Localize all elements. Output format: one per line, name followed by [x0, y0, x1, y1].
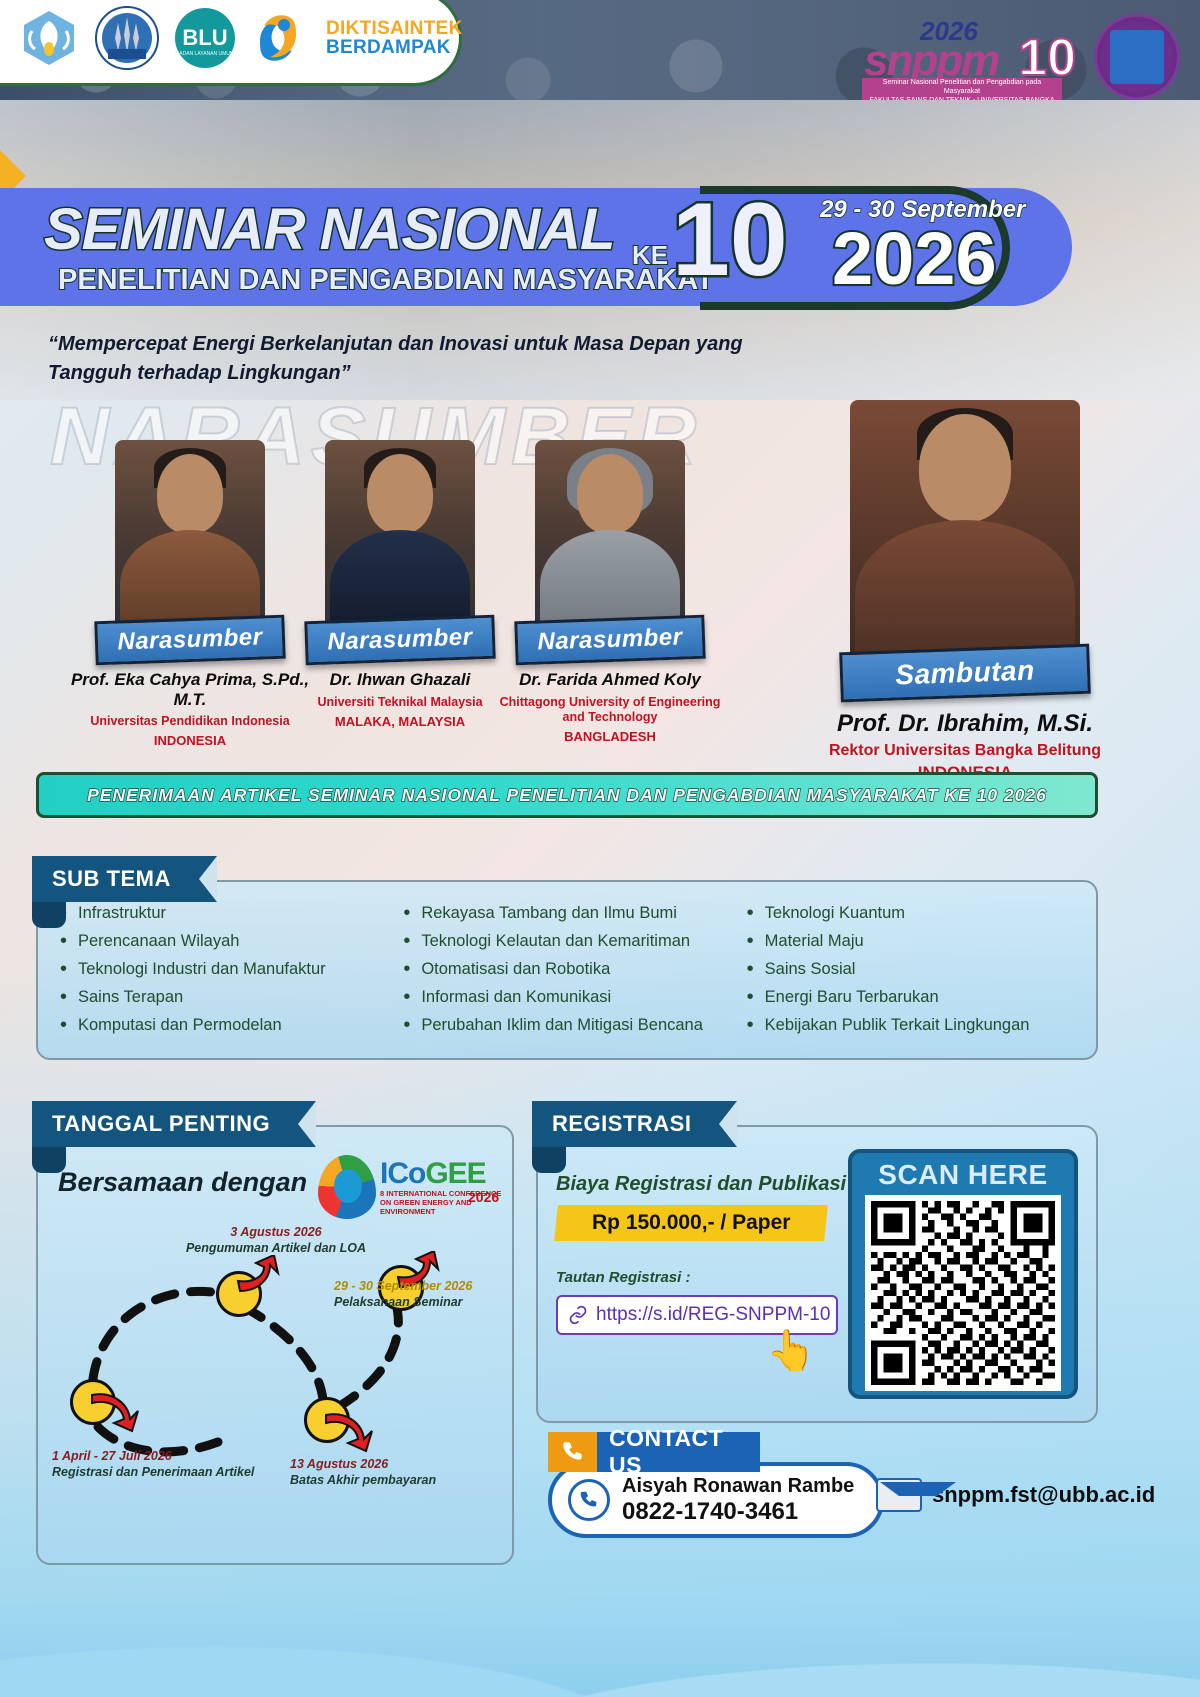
portrait-head — [157, 454, 223, 534]
speaker-ribbon-2: Narasumber — [304, 615, 495, 666]
fee-label: Biaya Registrasi dan Publikasi — [556, 1173, 846, 1196]
page-subtitle: PENELITIAN DAN PENGABDIAN MASYARAKAT — [58, 264, 714, 297]
diktisaintek-line2: BERDAMPAK — [326, 38, 463, 57]
contact-us-label: CONTACT US — [609, 1425, 760, 1479]
contact-email-row: snppm.fst@ubb.ac.id — [876, 1478, 1155, 1512]
subtema-item: Informasi dan Komunikasi — [399, 988, 742, 1007]
speaker-photo-3 — [535, 440, 685, 640]
timeline-date-1: 1 April - 27 Juli 2026 — [52, 1449, 282, 1465]
speaker-ribbon-label-1: Narasumber — [117, 623, 263, 656]
event-tagline: “Mempercepat Energi Berkelanjutan dan In… — [48, 330, 808, 388]
registration-url[interactable]: https://s.id/REG-SNPPM-10 — [596, 1304, 830, 1326]
keynote-ribbon-label: Sambutan — [895, 655, 1035, 692]
keynote-photo — [850, 400, 1080, 670]
diktisaintek-icon — [250, 9, 308, 67]
fee-amount-badge: Rp 150.000,- / Paper — [554, 1205, 828, 1241]
subtema-item: Perubahan Iklim dan Mitigasi Bencana — [399, 1016, 742, 1035]
registrasi-title: REGISTRASI — [552, 1111, 691, 1137]
speaker-photo-1 — [115, 440, 265, 640]
contact-email: snppm.fst@ubb.ac.id — [932, 1482, 1155, 1508]
svg-text:BLU: BLU — [182, 25, 227, 50]
subtema-item: Infrastruktur — [56, 904, 399, 923]
subtema-item: Komputasi dan Permodelan — [56, 1016, 399, 1035]
edition-prefix-label: KE — [632, 240, 668, 271]
speaker-card-2: Narasumber Dr. Ihwan Ghazali Universiti … — [285, 440, 515, 729]
speaker-ribbon-label-3: Narasumber — [537, 623, 683, 656]
header-strip: BLU BADAN LAYANAN UMUM DIKTISAINTEK BERD… — [0, 0, 1200, 100]
diktisaintek-wordmark: DIKTISAINTEK BERDAMPAK — [326, 19, 463, 57]
timeline-arrow-2 — [236, 1255, 284, 1301]
timeline-label-1: 1 April - 27 Juli 2026 Registrasi dan Pe… — [52, 1449, 282, 1480]
tut-wuri-handayani-logo — [18, 7, 80, 69]
subtema-item: Teknologi Kuantum — [743, 904, 1086, 923]
phone-circle-icon — [568, 1479, 610, 1521]
snppm-caption: Seminar Nasional Penelitian dan Pengabdi… — [862, 78, 1062, 100]
timeline-arrow-3 — [324, 1409, 374, 1455]
timeline-label-3: 13 Agustus 2026 Batas Akhir pembayaran — [290, 1457, 490, 1488]
fee-amount: Rp 150.000,- / Paper — [592, 1211, 790, 1235]
pointing-hand-icon: 👆 — [766, 1327, 816, 1374]
institution-logo-group: BLU BADAN LAYANAN UMUM DIKTISAINTEK BERD… — [0, 0, 462, 86]
diktisaintek-line1: DIKTISAINTEK — [326, 19, 463, 38]
scan-here-label: SCAN HERE — [878, 1159, 1047, 1191]
registrasi-panel: REGISTRASI Biaya Registrasi dan Publikas… — [536, 1125, 1098, 1423]
contact-text-group: Aisyah Ronawan Rambe 0822-1740-3461 — [622, 1475, 854, 1526]
phone-icon — [560, 1439, 586, 1465]
event-year: 2026 — [832, 222, 997, 296]
page-title: SEMINAR NASIONAL — [44, 196, 614, 263]
timeline-arrow-1 — [90, 1389, 140, 1435]
contact-phone-number: 0822-1740-3461 — [622, 1498, 854, 1526]
registrasi-tag-foot — [532, 1147, 566, 1173]
registrasi-tag: REGISTRASI — [532, 1101, 737, 1147]
speaker-affiliation-3: Chittagong University of Engineering and… — [490, 695, 730, 725]
subtema-tag-foot — [32, 902, 66, 928]
fakultas-sains-teknik-seal — [1094, 14, 1180, 100]
timeline-text-3: Batas Akhir pembayaran — [290, 1473, 490, 1489]
speaker-country-1: INDONESIA — [70, 733, 310, 748]
timeline-date-3: 13 Agustus 2026 — [290, 1457, 490, 1473]
speaker-card-1: Narasumber Prof. Eka Cahya Prima, S.Pd.,… — [70, 440, 310, 748]
timeline-date-2: 3 Agustus 2026 — [166, 1225, 386, 1241]
subtema-column-1: Infrastruktur Perencanaan Wilayah Teknol… — [56, 904, 399, 1044]
svg-text:BADAN LAYANAN UMUM: BADAN LAYANAN UMUM — [176, 51, 234, 57]
portrait-head — [577, 454, 643, 534]
subtema-item: Material Maju — [743, 932, 1086, 951]
timeline-label-2: 3 Agustus 2026 Pengumuman Artikel dan LO… — [166, 1225, 386, 1256]
timeline-date-4: 29 - 30 September 2026 — [334, 1279, 514, 1295]
speaker-name-1: Prof. Eka Cahya Prima, S.Pd., M.T. — [70, 670, 310, 709]
subtema-title: SUB TEMA — [52, 866, 171, 892]
tanggal-tag-foot — [32, 1147, 66, 1173]
article-submission-banner: PENERIMAAN ARTIKEL SEMINAR NASIONAL PENE… — [36, 772, 1098, 818]
timeline-label-4: 29 - 30 September 2026 Pelaksanaan Semin… — [334, 1279, 514, 1310]
subtema-item: Perencanaan Wilayah — [56, 932, 399, 951]
timeline-text-2: Pengumuman Artikel dan LOA — [166, 1241, 386, 1257]
subtema-item: Teknologi Industri dan Manufaktur — [56, 960, 399, 979]
poster-root: BLU BADAN LAYANAN UMUM DIKTISAINTEK BERD… — [0, 0, 1200, 1697]
timeline-text-4: Pelaksanaan Seminar — [334, 1295, 514, 1311]
subtema-item: Otomatisasi dan Robotika — [399, 960, 742, 979]
subtema-column-2: Rekayasa Tambang dan Ilmu Bumi Teknologi… — [399, 904, 742, 1044]
speaker-ribbon-3: Narasumber — [514, 615, 705, 666]
timeline-graphic: 1 April - 27 Juli 2026 Registrasi dan Pe… — [38, 1127, 512, 1563]
portrait-head — [919, 414, 1011, 522]
subtema-item: Rekayasa Tambang dan Ilmu Bumi — [399, 904, 742, 923]
timeline-text-1: Registrasi dan Penerimaan Artikel — [52, 1465, 282, 1481]
registration-link-label: Tautan Registrasi : — [556, 1269, 690, 1286]
universitas-bangka-belitung-logo — [94, 5, 160, 71]
contact-us-tab: CONTACT US — [548, 1432, 760, 1472]
subtema-item: Sains Sosial — [743, 960, 1086, 979]
subtema-item: Teknologi Kelautan dan Kemaritiman — [399, 932, 742, 951]
subtema-item: Energi Baru Terbarukan — [743, 988, 1086, 1007]
snppm-logo: 2026 snppm 10 Seminar Nasional Penelitia… — [850, 20, 1070, 98]
subtema-item: Sains Terapan — [56, 988, 399, 1007]
subtema-item: Kebijakan Publik Terkait Lingkungan — [743, 1016, 1086, 1035]
speaker-country-2: MALAKA, MALAYSIA — [285, 714, 515, 729]
subtema-column-3: Teknologi Kuantum Material Maju Sains So… — [743, 904, 1086, 1044]
scan-here-card: SCAN HERE — [848, 1149, 1078, 1399]
subtema-tag: SUB TEMA — [32, 856, 217, 902]
speaker-card-3: Narasumber Dr. Farida Ahmed Koly Chittag… — [490, 440, 730, 744]
article-submission-banner-text: PENERIMAAN ARTIKEL SEMINAR NASIONAL PENE… — [87, 785, 1047, 806]
phone-icon — [578, 1489, 600, 1511]
tanggal-penting-panel: TANGGAL PENTING Bersamaan dengan ICoGEE … — [36, 1125, 514, 1565]
speaker-name-2: Dr. Ihwan Ghazali — [285, 670, 515, 690]
edition-number: 10 — [672, 188, 788, 292]
speaker-affiliation-1: Universitas Pendidikan Indonesia — [70, 714, 310, 729]
subtema-panel: SUB TEMA Infrastruktur Perencanaan Wilay… — [36, 880, 1098, 1060]
speaker-name-3: Dr. Farida Ahmed Koly — [490, 670, 730, 690]
speaker-photo-2 — [325, 440, 475, 640]
speaker-ribbon-1: Narasumber — [94, 615, 285, 666]
keynote-ribbon: Sambutan — [839, 644, 1091, 703]
speaker-country-3: BANGLADESH — [490, 729, 730, 744]
tanggal-penting-tag: TANGGAL PENTING — [32, 1101, 316, 1147]
email-icon — [876, 1478, 922, 1512]
keynote-card: Sambutan Prof. Dr. Ibrahim, M.Si. Rektor… — [800, 400, 1130, 783]
speaker-affiliation-2: Universiti Teknikal Malaysia — [285, 695, 515, 710]
seal-inner-emblem — [1110, 30, 1164, 84]
link-icon — [568, 1305, 588, 1325]
blu-logo: BLU BADAN LAYANAN UMUM — [174, 7, 236, 69]
qr-code[interactable] — [865, 1195, 1061, 1391]
phone-icon-badge — [548, 1432, 597, 1472]
snppm-caption-line1: Seminar Nasional Penelitian dan Pengabdi… — [864, 79, 1060, 97]
keynote-name: Prof. Dr. Ibrahim, M.Si. — [800, 710, 1130, 738]
keynote-role: Rektor Universitas Bangka Belitung — [800, 742, 1130, 760]
subtema-columns: Infrastruktur Perencanaan Wilayah Teknol… — [56, 904, 1086, 1044]
portrait-head — [367, 454, 433, 534]
tanggal-penting-title: TANGGAL PENTING — [52, 1111, 270, 1137]
speaker-ribbon-label-2: Narasumber — [327, 623, 473, 656]
